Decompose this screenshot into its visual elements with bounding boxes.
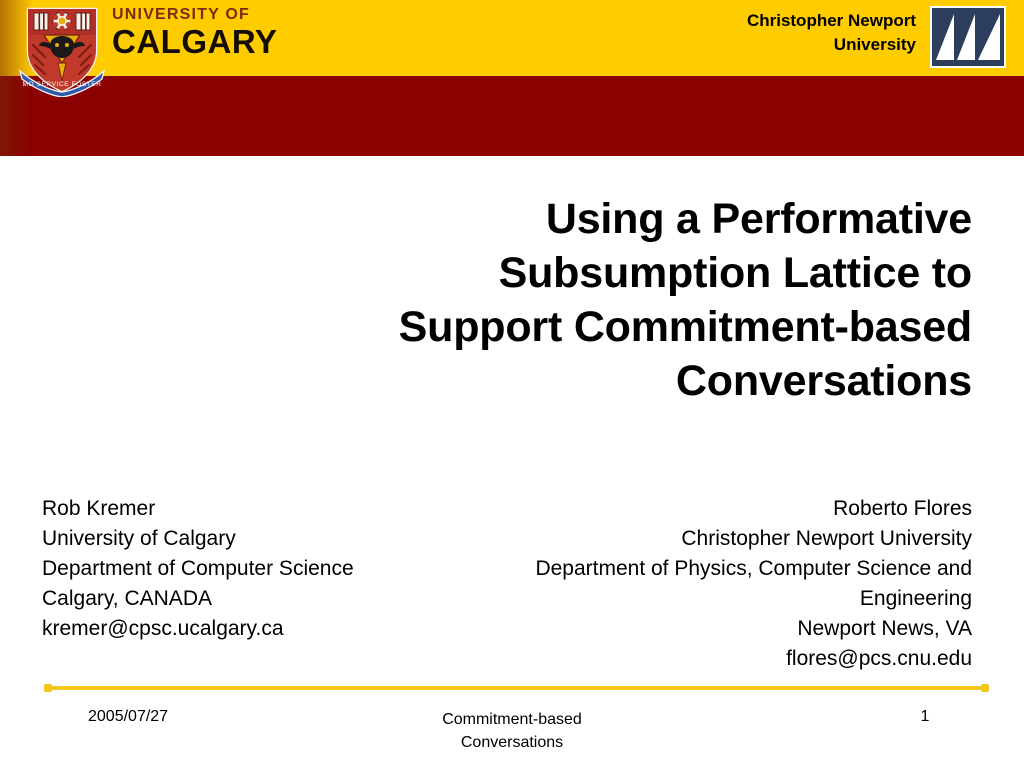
author-block-right: Roberto Flores Christopher Newport Unive… [462,494,972,674]
title-line-4: Conversations [60,354,972,408]
svg-text:MO SERVICE FOSTER: MO SERVICE FOSTER [22,81,101,88]
author-left-institution: University of Calgary [42,524,462,554]
author-left-name: Rob Kremer [42,494,462,524]
calgary-wordmark-line2: CALGARY [112,24,272,60]
cnu-name: Christopher Newport University [747,6,916,57]
title-line-2: Subsumption Lattice to [60,246,972,300]
cnu-name-line2: University [747,33,916,57]
title-slide: MO SERVICE FOSTER UNIVERSITY OF CALGARY … [0,0,1024,768]
footer-title-line2: Conversations [392,731,632,754]
calgary-crest-icon: MO SERVICE FOSTER [14,1,110,97]
author-left-email[interactable]: kremer@cpsc.ucalgary.ca [42,614,462,644]
university-of-calgary-logo: MO SERVICE FOSTER UNIVERSITY OF CALGARY [14,1,274,99]
footer-page-number: 1 [880,708,970,726]
footer-title-line1: Commitment-based [392,708,632,731]
author-block-left: Rob Kremer University of Calgary Departm… [42,494,462,644]
author-right-email[interactable]: flores@pcs.cnu.edu [462,644,972,674]
footer-date: 2005/07/27 [88,708,168,726]
cnu-slashes-icon [932,8,1004,66]
footer-divider [48,686,985,690]
slide-title: Using a Performative Subsumption Lattice… [60,192,972,408]
calgary-wordmark: UNIVERSITY OF CALGARY [112,5,272,67]
title-line-1: Using a Performative [60,192,972,246]
author-right-name: Roberto Flores [462,494,972,524]
title-line-3: Support Commitment-based [60,300,972,354]
footer-title: Commitment-based Conversations [392,708,632,754]
cnu-logo-icon [930,6,1006,68]
authors-section: Rob Kremer University of Calgary Departm… [0,494,1024,680]
author-right-location: Newport News, VA [462,614,972,644]
cnu-name-line1: Christopher Newport [747,9,916,33]
author-left-department: Department of Computer Science [42,554,462,584]
christopher-newport-university-block: Christopher Newport University [747,6,1006,72]
author-left-location: Calgary, CANADA [42,584,462,614]
calgary-wordmark-line1: UNIVERSITY OF [112,5,272,24]
author-right-institution: Christopher Newport University [462,524,972,554]
slide-header: MO SERVICE FOSTER UNIVERSITY OF CALGARY … [0,0,1024,156]
author-right-department: Department of Physics, Computer Science … [462,554,972,614]
